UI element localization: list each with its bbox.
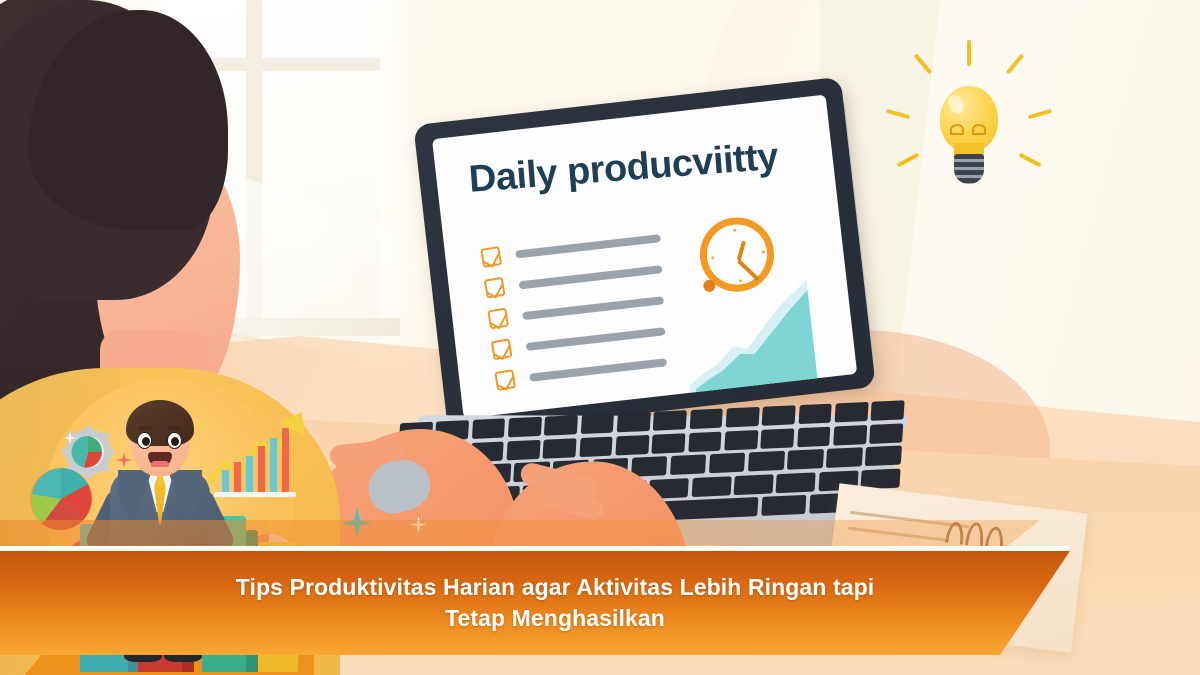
mascot-eye bbox=[137, 432, 152, 449]
page-title: Tips Produktivitas Harian agar Aktivitas… bbox=[205, 572, 905, 635]
checkbox-checked-icon[interactable] bbox=[491, 338, 513, 360]
mascot-mouth bbox=[148, 452, 172, 467]
clock-minute-hand bbox=[737, 259, 760, 281]
laptop-lid: Daily producviitty bbox=[413, 77, 876, 436]
checklist bbox=[480, 221, 686, 397]
screen-title: Daily producviitty bbox=[467, 133, 809, 201]
checklist-line bbox=[515, 234, 661, 258]
mascot-eye bbox=[167, 432, 182, 449]
lightbulb-icon bbox=[880, 38, 1050, 223]
checkbox-checked-icon[interactable] bbox=[484, 277, 506, 299]
checkbox-checked-icon[interactable] bbox=[494, 369, 516, 391]
checklist-line bbox=[529, 358, 667, 382]
clock-hour-hand bbox=[737, 241, 746, 261]
area-chart bbox=[679, 276, 820, 394]
bulb-base bbox=[954, 154, 984, 184]
checkbox-checked-icon[interactable] bbox=[487, 308, 509, 330]
illustration-canvas: Daily producviitty bbox=[0, 0, 1200, 675]
page-title-line-1: Tips Produktivitas Harian agar Aktivitas… bbox=[236, 574, 827, 600]
checkbox-checked-icon[interactable] bbox=[480, 246, 502, 268]
laptop: Daily producviitty bbox=[413, 77, 876, 444]
laptop-screen: Daily producviitty bbox=[432, 95, 857, 419]
trending-up-arrow-icon bbox=[206, 408, 310, 504]
checklist-line bbox=[519, 265, 663, 289]
checklist-line bbox=[522, 296, 664, 320]
checklist-line bbox=[526, 327, 666, 351]
